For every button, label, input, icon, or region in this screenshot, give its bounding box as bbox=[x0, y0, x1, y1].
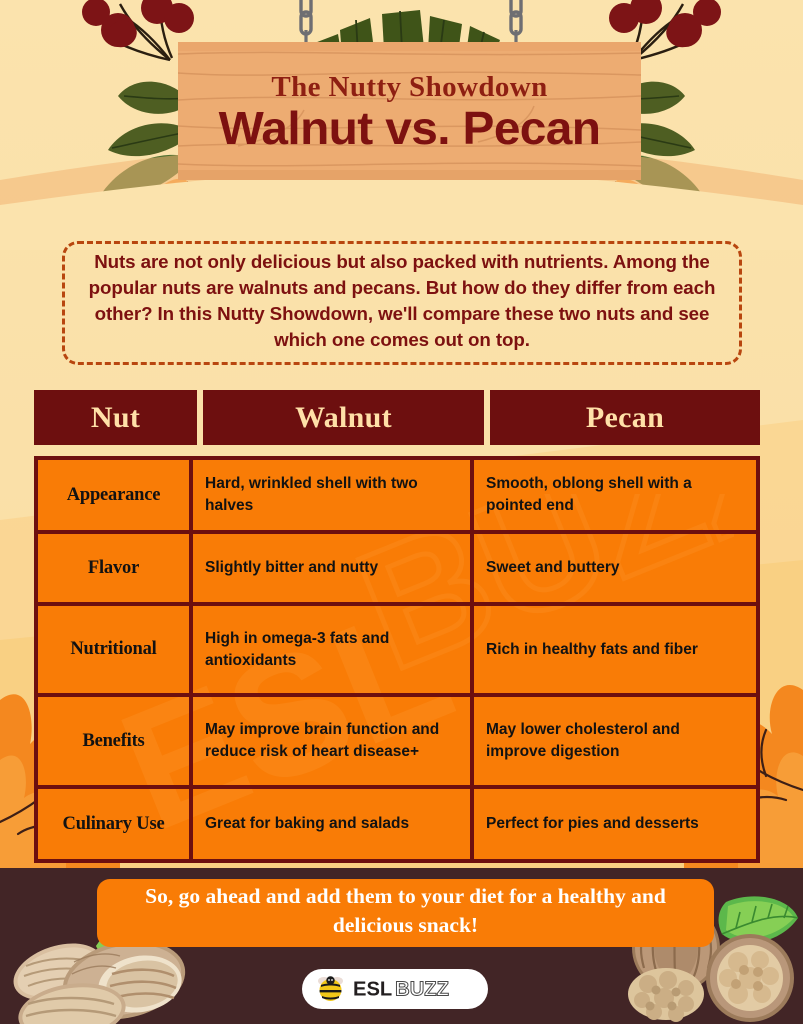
row-pecan-value: Perfect for pies and desserts bbox=[474, 789, 756, 859]
table-row: Flavor Slightly bitter and nutty Sweet a… bbox=[38, 534, 756, 606]
row-walnut-value: Slightly bitter and nutty bbox=[193, 534, 474, 602]
table-row: Appearance Hard, wrinkled shell with two… bbox=[38, 460, 756, 534]
comparison-table: Nut Walnut Pecan ESL BUZZ Appearance Har… bbox=[34, 390, 760, 863]
row-pecan-value: May lower cholesterol and improve digest… bbox=[474, 697, 756, 785]
sign-board: The Nutty Showdown Walnut vs. Pecan bbox=[178, 42, 641, 180]
row-label: Flavor bbox=[38, 534, 193, 602]
table-column-header-nut: Nut bbox=[34, 390, 197, 445]
row-walnut-value: Great for baking and salads bbox=[193, 789, 474, 859]
row-label: Appearance bbox=[38, 460, 193, 530]
intro-callout: Nuts are not only delicious but also pac… bbox=[62, 241, 742, 365]
row-walnut-value: May improve brain function and reduce ri… bbox=[193, 697, 474, 785]
table-body: ESL BUZZ Appearance Hard, wrinkled shell… bbox=[34, 456, 760, 863]
eslbuzz-logo[interactable]: ESL BUZZ bbox=[302, 969, 488, 1009]
row-pecan-value: Rich in healthy fats and fiber bbox=[474, 606, 756, 693]
row-label: Nutritional bbox=[38, 606, 193, 693]
bee-icon bbox=[316, 976, 345, 1002]
row-walnut-value: High in omega-3 fats and antioxidants bbox=[193, 606, 474, 693]
table-row: Nutritional High in omega-3 fats and ant… bbox=[38, 606, 756, 697]
sign-title: The Nutty Showdown bbox=[271, 73, 547, 102]
row-label: Culinary Use bbox=[38, 789, 193, 859]
cta-banner: So, go ahead and add them to your diet f… bbox=[97, 879, 714, 947]
table-column-header-pecan: Pecan bbox=[490, 390, 760, 445]
intro-text: Nuts are not only delicious but also pac… bbox=[77, 249, 728, 354]
logo-wordmark: ESL BUZZ bbox=[353, 978, 474, 1000]
row-pecan-value: Smooth, oblong shell with a pointed end bbox=[474, 460, 756, 530]
header-sign: The Nutty Showdown Walnut vs. Pecan bbox=[0, 0, 803, 235]
cta-text: So, go ahead and add them to your diet f… bbox=[111, 882, 700, 939]
row-walnut-value: Hard, wrinkled shell with two halves bbox=[193, 460, 474, 530]
sign-subtitle: Walnut vs. Pecan bbox=[219, 104, 601, 152]
row-label: Benefits bbox=[38, 697, 193, 785]
row-pecan-value: Sweet and buttery bbox=[474, 534, 756, 602]
table-column-header-walnut: Walnut bbox=[203, 390, 484, 445]
table-row: Benefits May improve brain function and … bbox=[38, 697, 756, 789]
table-header-row: Nut Walnut Pecan bbox=[34, 390, 760, 445]
logo-brand-secondary: BUZZ bbox=[395, 978, 449, 1000]
table-row: Culinary Use Great for baking and salads… bbox=[38, 789, 756, 859]
logo-brand-primary: ESL bbox=[353, 978, 392, 1000]
